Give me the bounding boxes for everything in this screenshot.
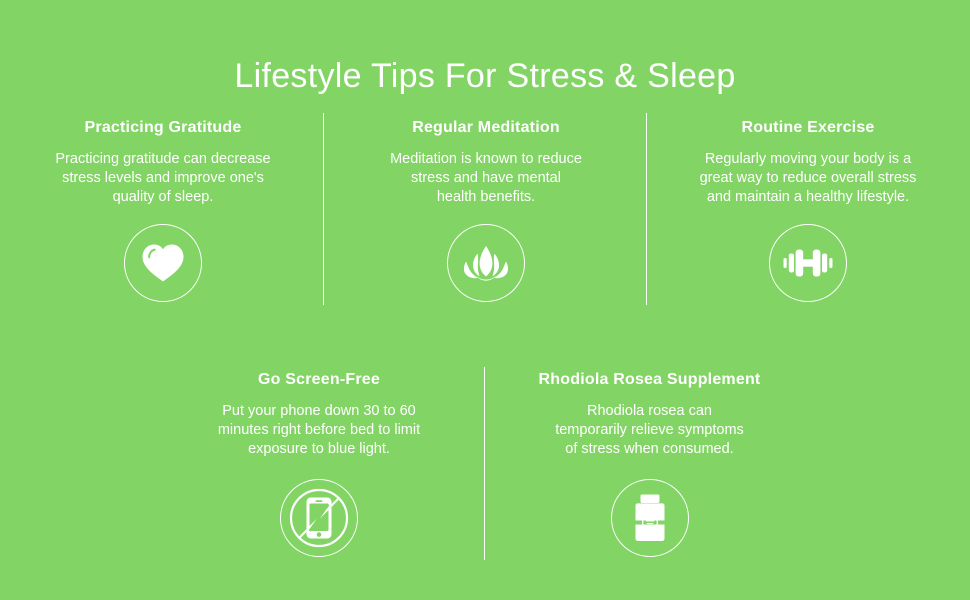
column-divider	[484, 367, 485, 560]
tip-card-icon-wrap	[124, 224, 202, 302]
tip-card-icon-wrap	[769, 224, 847, 302]
tip-card-icon-wrap	[280, 479, 358, 557]
dumbbell-icon	[783, 248, 833, 278]
tip-card-icon-wrap	[447, 224, 525, 302]
tip-card-body: Rhodiola rosea can temporarily relieve s…	[506, 402, 793, 459]
icon-circle	[447, 224, 525, 302]
tip-card-title: Rhodiola Rosea Supplement	[506, 370, 793, 390]
icon-circle	[769, 224, 847, 302]
tip-card-gratitude: Practicing Gratitude Practicing gratitud…	[23, 118, 303, 207]
tip-card-exercise: Routine Exercise Regularly moving your b…	[668, 118, 948, 207]
heart-icon	[141, 243, 185, 283]
column-divider	[646, 113, 647, 305]
supplement-jar-icon	[627, 493, 673, 543]
icon-circle	[280, 479, 358, 557]
tip-card-meditation: Regular Meditation Meditation is known t…	[346, 118, 626, 207]
tip-card-icon-wrap	[611, 479, 689, 557]
icon-circle	[124, 224, 202, 302]
tip-card-title: Regular Meditation	[346, 118, 626, 138]
column-divider	[323, 113, 324, 305]
tip-card-body: Regularly moving your body is a great wa…	[668, 150, 948, 207]
page-title: Lifestyle Tips For Stress & Sleep	[0, 53, 970, 99]
tip-card-rhodiola: Rhodiola Rosea Supplement Rhodiola rosea…	[506, 370, 793, 459]
tip-card-title: Routine Exercise	[668, 118, 948, 138]
tip-card-title: Go Screen-Free	[179, 370, 459, 390]
tip-card-body: Put your phone down 30 to 60 minutes rig…	[179, 402, 459, 459]
tip-card-body: Practicing gratitude can decrease stress…	[23, 150, 303, 207]
tip-card-title: Practicing Gratitude	[23, 118, 303, 138]
tip-card-screen-free: Go Screen-Free Put your phone down 30 to…	[179, 370, 459, 459]
icon-circle	[611, 479, 689, 557]
tip-card-body: Meditation is known to reduce stress and…	[346, 150, 626, 207]
infographic-root: Lifestyle Tips For Stress & Sleep Practi…	[0, 0, 970, 600]
no-phone-icon	[288, 487, 350, 549]
lotus-icon	[462, 244, 510, 282]
